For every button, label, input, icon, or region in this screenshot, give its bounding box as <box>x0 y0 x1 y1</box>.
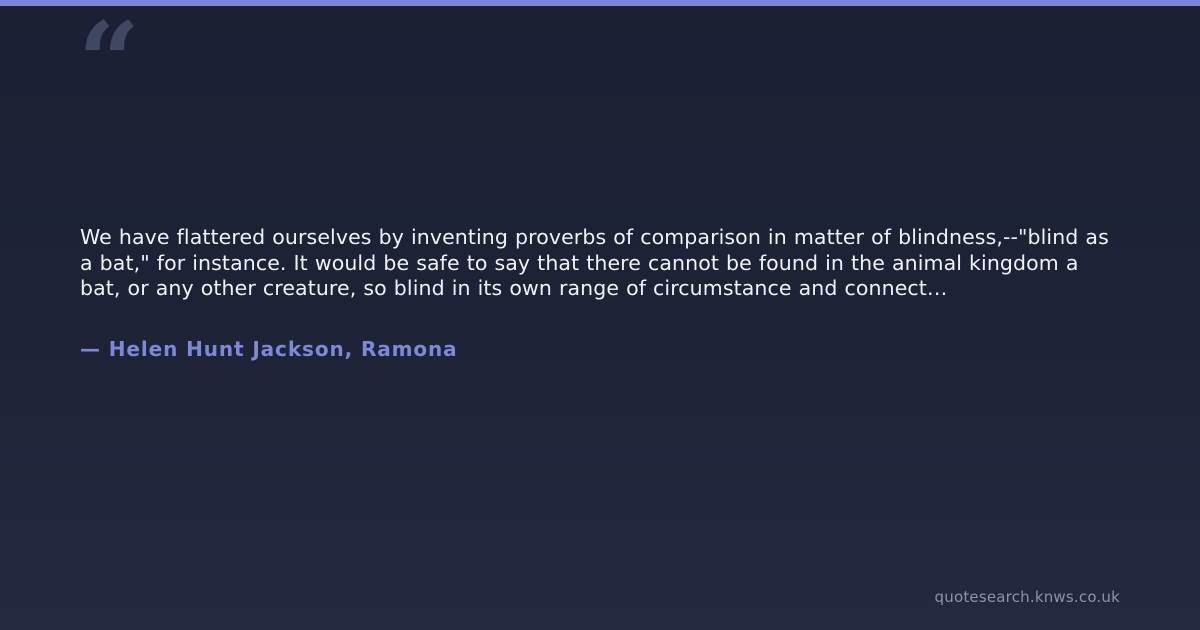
quote-card: “ We have flattered ourselves by inventi… <box>0 0 1200 630</box>
top-accent-bar <box>0 0 1200 6</box>
quote-text: We have flattered ourselves by inventing… <box>80 225 1125 302</box>
quote-attribution: — Helen Hunt Jackson, Ramona <box>80 337 1125 361</box>
source-url: quotesearch.knws.co.uk <box>935 588 1120 606</box>
open-quote-icon: “ <box>78 8 138 116</box>
quote-content: We have flattered ourselves by inventing… <box>80 225 1125 361</box>
